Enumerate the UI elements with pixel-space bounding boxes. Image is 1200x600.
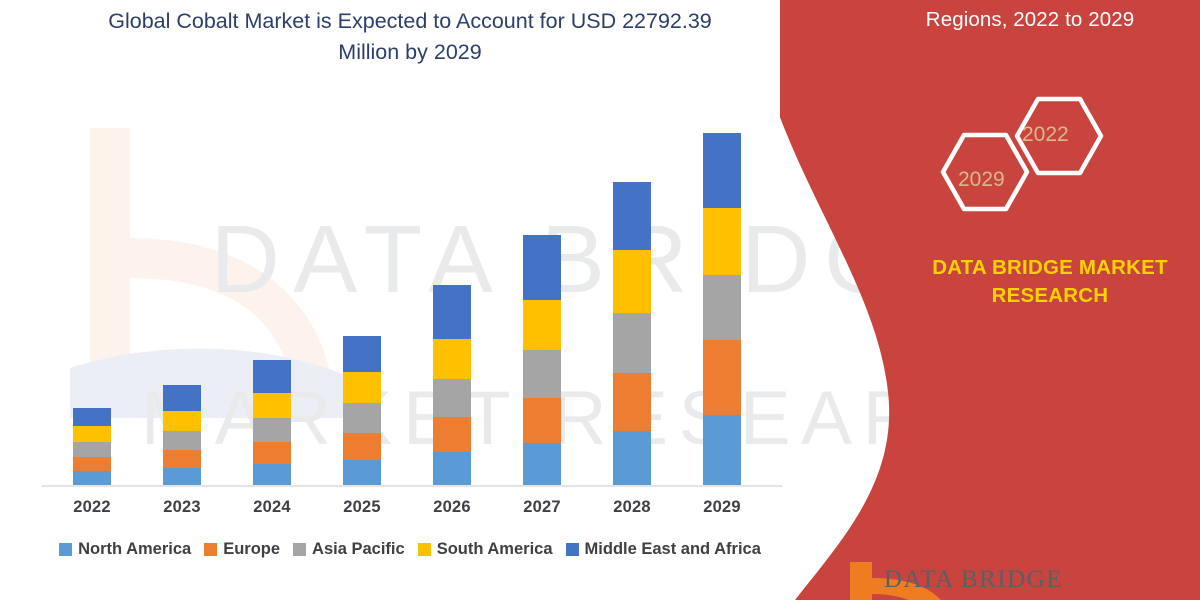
bar-segment-asia-pacific[interactable] — [343, 403, 381, 433]
legend-label: South America — [437, 540, 553, 559]
bar-segment-middle-east-and-africa[interactable] — [523, 235, 561, 300]
bar-segment-south-america[interactable] — [433, 339, 471, 379]
legend-item-south-america[interactable]: South America — [418, 540, 553, 559]
bar-segment-south-america[interactable] — [613, 250, 651, 313]
bar-2028[interactable] — [613, 182, 651, 485]
bar-2025[interactable] — [343, 336, 381, 485]
chart-legend: North AmericaEuropeAsia PacificSouth Ame… — [40, 540, 780, 559]
bar-segment-middle-east-and-africa[interactable] — [703, 133, 741, 208]
bar-segment-north-america[interactable] — [523, 443, 561, 485]
x-tick-2023: 2023 — [137, 498, 227, 517]
bar-segment-north-america[interactable] — [343, 460, 381, 485]
legend-label: North America — [78, 540, 191, 559]
bar-segment-europe[interactable] — [73, 457, 111, 471]
bar-segment-south-america[interactable] — [163, 411, 201, 431]
x-tick-2027: 2027 — [497, 498, 587, 517]
legend-item-europe[interactable]: Europe — [204, 540, 280, 559]
legend-label: Middle East and Africa — [585, 540, 761, 559]
bar-2023[interactable] — [163, 385, 201, 485]
bar-segment-north-america[interactable] — [253, 464, 291, 485]
x-tick-2025: 2025 — [317, 498, 407, 517]
logo-wordmark: DATA BRIDGE — [884, 566, 1063, 594]
legend-swatch-icon — [204, 543, 217, 556]
legend-swatch-icon — [566, 543, 579, 556]
x-tick-2028: 2028 — [587, 498, 677, 517]
bar-segment-middle-east-and-africa[interactable] — [433, 285, 471, 339]
bar-segment-middle-east-and-africa[interactable] — [343, 336, 381, 372]
x-tick-2022: 2022 — [47, 498, 137, 517]
bar-2022[interactable] — [73, 408, 111, 485]
x-axis-line — [42, 485, 782, 487]
bar-2026[interactable] — [433, 285, 471, 485]
bar-segment-south-america[interactable] — [523, 300, 561, 350]
bar-2027[interactable] — [523, 235, 561, 485]
bar-2024[interactable] — [253, 360, 291, 485]
bar-segment-middle-east-and-africa[interactable] — [253, 360, 291, 393]
bar-segment-asia-pacific[interactable] — [253, 418, 291, 442]
bar-segment-asia-pacific[interactable] — [433, 379, 471, 417]
bar-segment-europe[interactable] — [163, 450, 201, 468]
bar-segment-asia-pacific[interactable] — [73, 442, 111, 457]
bar-segment-middle-east-and-africa[interactable] — [613, 182, 651, 250]
hexagon-2022-label: 2022 — [1022, 123, 1069, 147]
legend-item-middle-east-and-africa[interactable]: Middle East and Africa — [566, 540, 761, 559]
bar-segment-europe[interactable] — [703, 340, 741, 415]
bar-segment-europe[interactable] — [343, 433, 381, 460]
legend-swatch-icon — [293, 543, 306, 556]
legend-swatch-icon — [418, 543, 431, 556]
bar-segment-north-america[interactable] — [433, 452, 471, 485]
bar-segment-south-america[interactable] — [343, 372, 381, 403]
x-tick-2029: 2029 — [677, 498, 767, 517]
bar-segment-asia-pacific[interactable] — [703, 275, 741, 340]
bar-segment-north-america[interactable] — [163, 468, 201, 485]
hexagon-pair-graphic — [920, 95, 1120, 225]
infographic-canvas: DATA BRIDGE MARKET RESEARCH Regions, 202… — [0, 0, 1200, 600]
legend-swatch-icon — [59, 543, 72, 556]
bar-segment-europe[interactable] — [253, 442, 291, 464]
bar-segment-north-america[interactable] — [73, 471, 111, 485]
chart-plot-area: 20222023202420252026202720282029 — [0, 0, 820, 600]
bar-segment-south-america[interactable] — [73, 426, 111, 442]
bar-segment-asia-pacific[interactable] — [523, 350, 561, 398]
legend-label: Europe — [223, 540, 280, 559]
x-tick-2026: 2026 — [407, 498, 497, 517]
bar-segment-north-america[interactable] — [613, 431, 651, 485]
brand-name-line-2: RESEARCH — [900, 284, 1200, 308]
bar-segment-asia-pacific[interactable] — [163, 431, 201, 450]
bar-segment-north-america[interactable] — [703, 415, 741, 485]
bar-2029[interactable] — [703, 133, 741, 485]
bar-segment-south-america[interactable] — [703, 208, 741, 275]
panel-heading: Regions, 2022 to 2029 — [860, 8, 1200, 32]
bar-segment-south-america[interactable] — [253, 393, 291, 418]
hexagon-2029-label: 2029 — [958, 168, 1005, 192]
bar-segment-europe[interactable] — [523, 398, 561, 443]
bar-segment-europe[interactable] — [433, 417, 471, 452]
bar-segment-middle-east-and-africa[interactable] — [73, 408, 111, 426]
x-tick-2024: 2024 — [227, 498, 317, 517]
bar-segment-asia-pacific[interactable] — [613, 313, 651, 373]
legend-item-asia-pacific[interactable]: Asia Pacific — [293, 540, 405, 559]
bar-segment-middle-east-and-africa[interactable] — [163, 385, 201, 411]
bar-segment-europe[interactable] — [613, 373, 651, 431]
legend-label: Asia Pacific — [312, 540, 405, 559]
brand-name-line-1: DATA BRIDGE MARKET — [900, 256, 1200, 280]
legend-item-north-america[interactable]: North America — [59, 540, 191, 559]
